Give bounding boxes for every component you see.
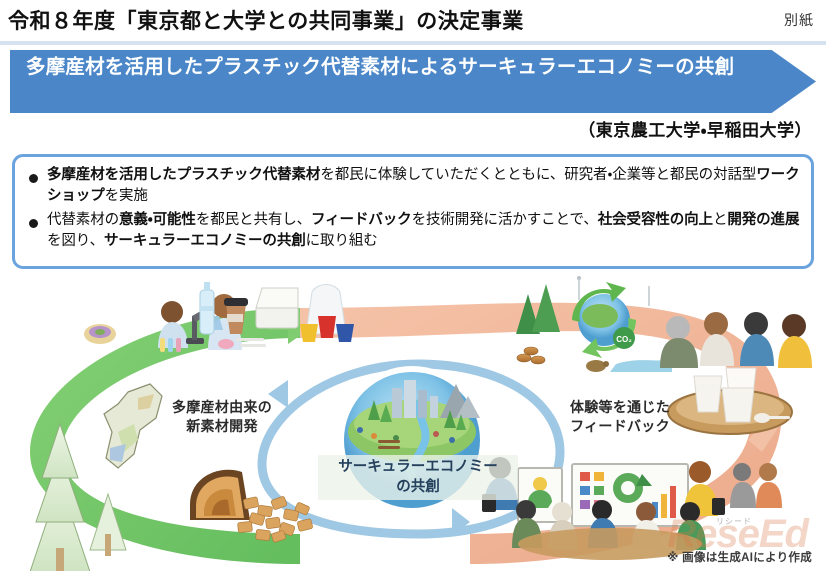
bullet-item: 代替素材の意義・可能性を都民と共有し、フィードバックを技術開発に活かすことで、社… (25, 210, 803, 253)
page-header: 令和８年度「東京都と大学との共同事業」の決定事業 別紙 (0, 0, 826, 44)
attachment-label: 別紙 (784, 10, 814, 30)
bullet-text: 多摩産材を活用したプラスチック代替素材を都民に体験していただくとともに、研究者・… (47, 165, 803, 208)
circular-economy-diagram: CO₂ (0, 272, 826, 571)
label-feedback: 体験等を通じたフィードバック (540, 398, 700, 436)
bullet-text: 代替素材の意義・可能性を都民と共有し、フィードバックを技術開発に活かすことで、社… (47, 210, 803, 253)
diagram-graphics: CO₂ (0, 272, 826, 571)
svg-text:CO₂: CO₂ (616, 335, 632, 344)
image-source-note: ※ 画像は生成AIにより作成 (667, 549, 812, 565)
label-circular-economy-center: サーキュラーエコノミーの共創 (318, 455, 518, 500)
bullet-item: 多摩産材を活用したプラスチック代替素材を都民に体験していただくとともに、研究者・… (25, 165, 803, 208)
watermark-subtext: リシード (716, 516, 752, 527)
workshop-presentation-scene (482, 457, 782, 560)
page-title: 令和８年度「東京都と大学との共同事業」の決定事業 (8, 5, 524, 35)
bullet-dot-icon (29, 174, 38, 183)
header-divider (0, 41, 826, 45)
bullet-list: 多摩産材を活用したプラスチック代替素材を都民に体験していただくとともに、研究者・… (25, 165, 803, 254)
slide-page: 令和８年度「東京都と大学との共同事業」の決定事業 別紙 多摩産材を活用したプラス… (0, 0, 826, 571)
label-material-development: 多摩産材由来の新素材開発 (142, 398, 302, 436)
university-attribution: （東京農工大学・早稲田大学） (578, 116, 812, 141)
summary-box: 多摩産材を活用したプラスチック代替素材を都民に体験していただくとともに、研究者・… (12, 154, 814, 269)
banner-title-text: 多摩産材を活用したプラスチック代替素材によるサーキュラーエコノミーの共創 (26, 54, 766, 82)
bullet-dot-icon (29, 219, 38, 228)
researchers-microscope-scene (84, 294, 242, 352)
project-title-banner: 多摩産材を活用したプラスチック代替素材によるサーキュラーエコノミーの共創 (10, 50, 816, 113)
